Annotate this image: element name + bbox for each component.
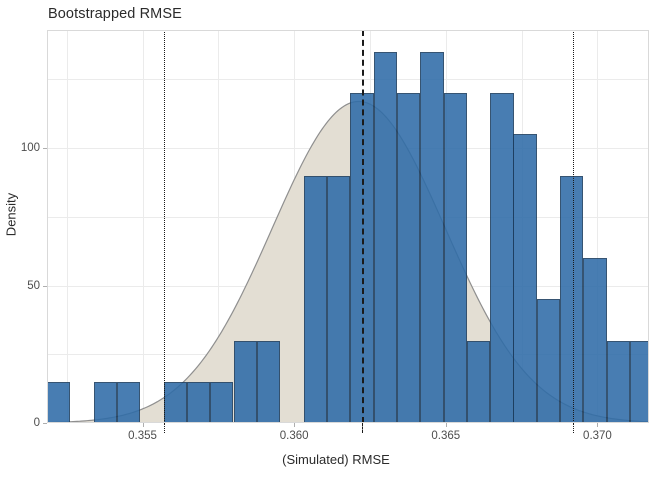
upper-ci-line bbox=[573, 30, 574, 423]
x-tick-mark-1 bbox=[294, 423, 295, 427]
plot-panel bbox=[47, 30, 649, 423]
x-tick-mark-3 bbox=[597, 423, 598, 427]
chart-root: Bootstrapped RMSE 0.3550.3600.3650.370 0… bbox=[0, 0, 672, 480]
mean-line bbox=[362, 30, 364, 423]
y-tick-mark-0 bbox=[43, 423, 47, 424]
x-tick-label-2: 0.365 bbox=[431, 430, 460, 442]
x-tick-label-0: 0.355 bbox=[128, 430, 157, 442]
upper-ci-line-extension bbox=[573, 423, 574, 433]
y-tick-label-0: 0 bbox=[34, 417, 40, 429]
y-axis-title: Density bbox=[4, 120, 19, 310]
y-tick-label-1: 50 bbox=[27, 280, 40, 292]
x-tick-mark-0 bbox=[143, 423, 144, 427]
lower-ci-line bbox=[164, 30, 165, 423]
y-tick-mark-2 bbox=[43, 148, 47, 149]
page-title: Bootstrapped RMSE bbox=[48, 6, 182, 22]
mean-line-extension bbox=[362, 423, 363, 433]
x-tick-label-3: 0.370 bbox=[583, 430, 612, 442]
y-tick-mark-1 bbox=[43, 286, 47, 287]
lower-ci-line-extension bbox=[164, 423, 165, 433]
x-tick-mark-2 bbox=[446, 423, 447, 427]
x-tick-label-1: 0.360 bbox=[280, 430, 309, 442]
y-tick-label-2: 100 bbox=[21, 142, 40, 154]
x-axis-title: (Simulated) RMSE bbox=[0, 452, 672, 467]
reference-lines bbox=[47, 30, 649, 423]
